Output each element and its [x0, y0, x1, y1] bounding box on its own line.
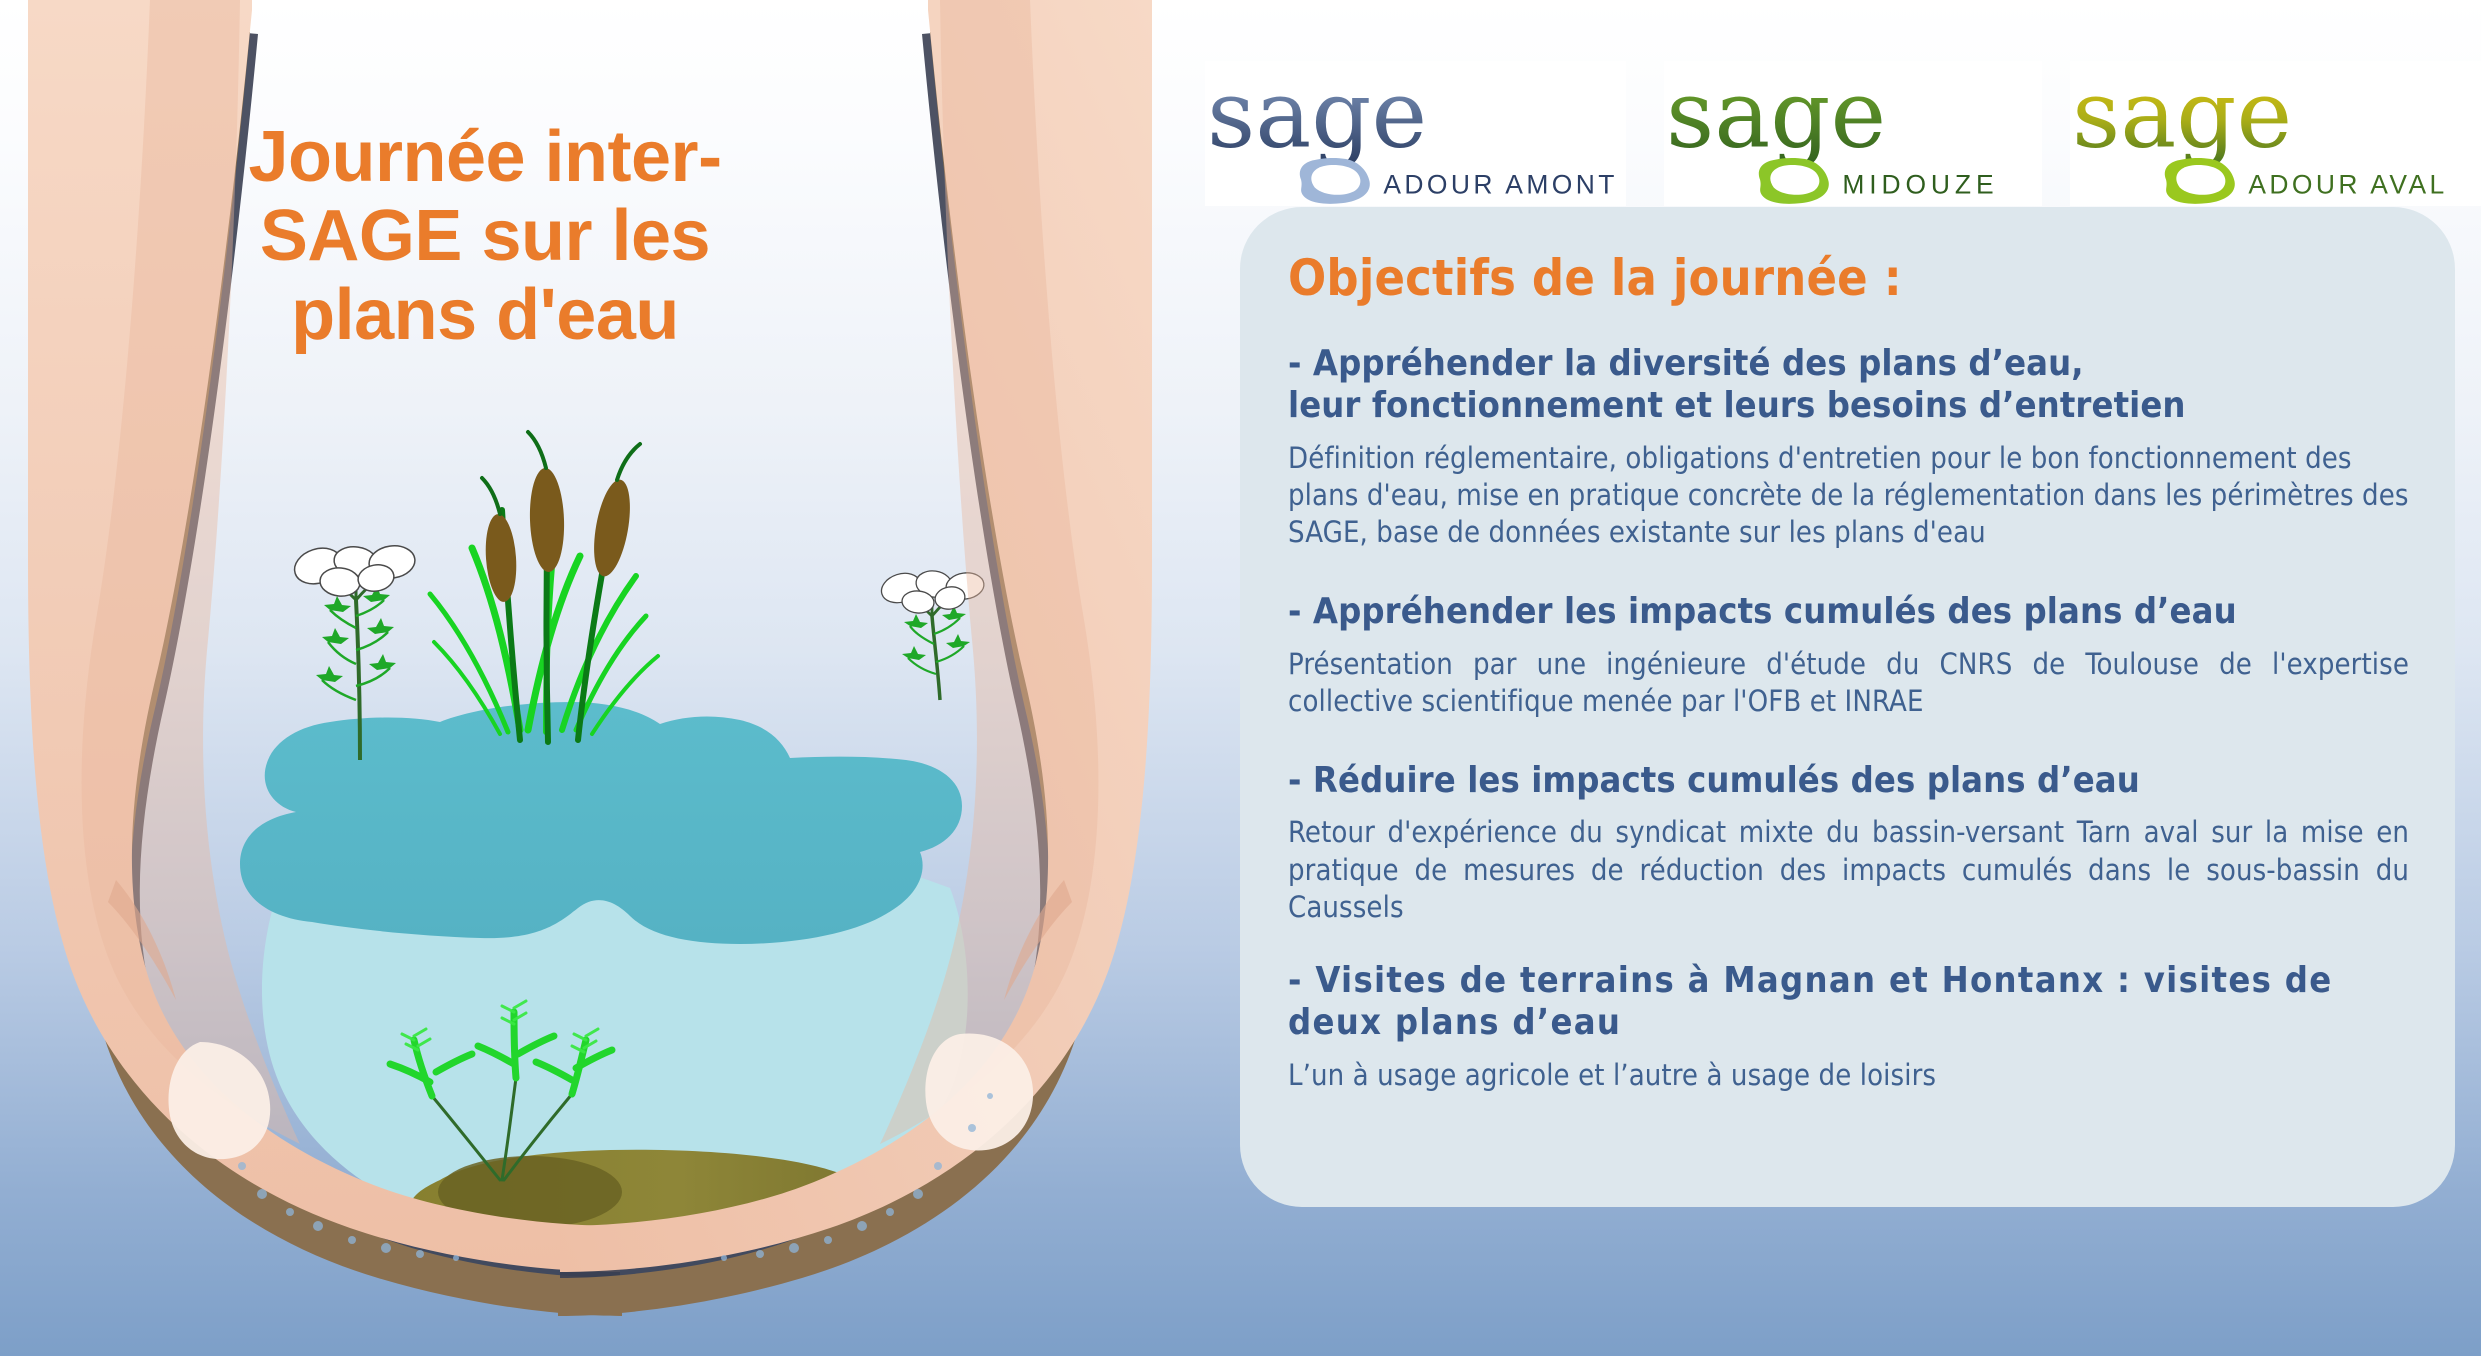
objective-title: - Réduire les impacts cumulés des plans …: [1288, 760, 2409, 802]
sage-wordmark: sage: [1207, 64, 1427, 169]
objective-item: - Appréhender les impacts cumulés des pl…: [1288, 591, 2409, 720]
sage-midouze-logo: sage MIDOUZE: [1664, 61, 2041, 206]
cattail-head: [528, 467, 566, 572]
cattail-plants: [430, 432, 658, 742]
objectives-panel: Objectifs de la journée : - Appréhender …: [1240, 207, 2455, 1207]
objectives-heading: Objectifs de la journée :: [1288, 249, 2409, 307]
objective-item: - Réduire les impacts cumulés des plans …: [1288, 760, 2409, 926]
page-title: Journée inter-SAGE sur les plans d'eau: [185, 118, 785, 356]
objective-body: Définition réglementaire, obligations d'…: [1288, 440, 2409, 551]
sage-adour-amont-logo: sage ADOUR AMONT: [1205, 61, 1626, 206]
objective-body: L’un à usage agricole et l’autre à usage…: [1288, 1057, 2409, 1094]
sage-wordmark: sage: [1666, 64, 1886, 169]
sage-wordmark: sage: [2071, 64, 2291, 169]
objective-title: - Visites de terrains à Magnan et Hontan…: [1288, 960, 2409, 1045]
flower-petal-cluster: [290, 542, 417, 597]
objective-title: - Appréhender les impacts cumulés des pl…: [1288, 591, 2409, 633]
objective-item: - Appréhender la diversité des plans d’e…: [1288, 343, 2409, 551]
objective-item: - Visites de terrains à Magnan et Hontan…: [1288, 960, 2409, 1094]
objective-body: Retour d'expérience du syndicat mixte du…: [1288, 814, 2409, 925]
sage-adour-aval-logo: sage ADOUR AVAL: [2070, 61, 2481, 206]
sage-subtitle: MIDOUZE: [1843, 169, 1999, 199]
sage-logos-strip: sage ADOUR AMONT sage MIDOUZE: [1205, 26, 2481, 206]
objective-title: - Appréhender la diversité des plans d’e…: [1288, 343, 2409, 428]
poster-root: Journée inter-SAGE sur les plans d'eau s…: [0, 0, 2481, 1356]
cattail-head: [588, 477, 637, 579]
sage-subtitle: ADOUR AVAL: [2248, 169, 2447, 199]
objective-body: Présentation par une ingénieure d'étude …: [1288, 646, 2409, 720]
sage-subtitle: ADOUR AMONT: [1383, 169, 1618, 199]
